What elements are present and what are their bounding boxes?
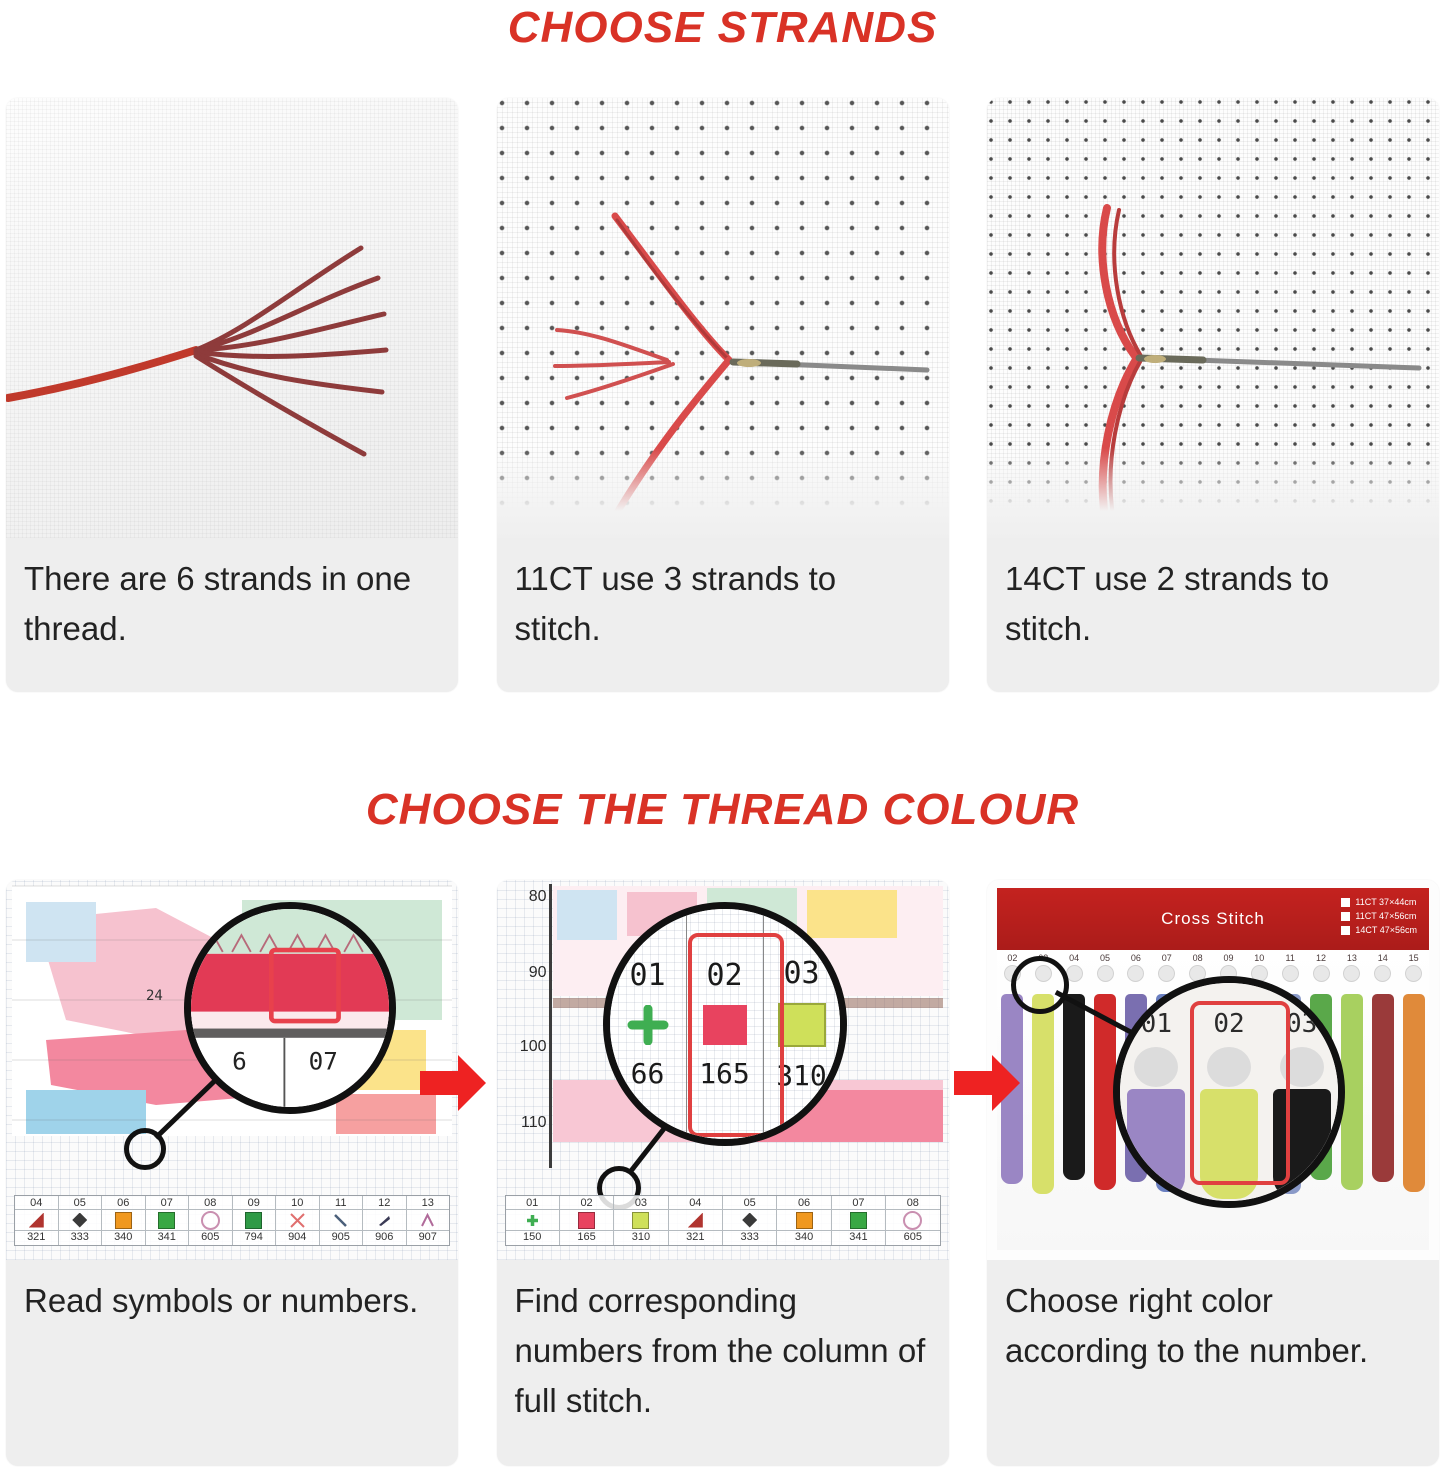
legend-number: 333: [59, 1231, 102, 1243]
cell-header: 02: [706, 958, 742, 993]
svg-text:07: 07: [309, 1047, 338, 1076]
magnified-key-cell: 03 310: [764, 909, 840, 1139]
peg-hole: [1374, 965, 1391, 982]
ct-option: 11CT 37×44cm: [1341, 897, 1417, 907]
skein: [1090, 994, 1121, 1250]
legend-header: 05: [59, 1197, 102, 1210]
pattern-chart-photo: 24: [6, 880, 458, 1260]
legend-header: 13: [407, 1197, 450, 1210]
legend-column: 10 904: [276, 1196, 320, 1245]
14ct-aida-needle-photo: [987, 98, 1439, 538]
peg-label: 04: [1069, 953, 1079, 963]
legend-symbol: [363, 1210, 406, 1231]
legend-column: 08 605: [189, 1196, 233, 1245]
legend-header: 08: [189, 1197, 232, 1210]
legend-header: 06: [777, 1197, 830, 1210]
checkbox-icon: [1341, 926, 1350, 935]
thread-focus-ring-small: [1011, 956, 1069, 1014]
checkbox-icon: [1341, 898, 1350, 907]
checkbox-icon: [1341, 912, 1350, 921]
legend-number: 905: [320, 1231, 363, 1243]
cell-header: 03: [783, 956, 819, 991]
peg-label: 05: [1100, 953, 1110, 963]
cell-number: 165: [699, 1057, 750, 1090]
row-marker: 110: [521, 1114, 547, 1132]
colour-card-row: 24: [0, 880, 1445, 1466]
cell-swatch: [703, 1005, 747, 1045]
section-heading-choose-strands: CHOOSE STRANDS: [0, 2, 1445, 54]
card-choose-color: Cross Stitch 11CT 37×44cm 11CT 47×56cm: [987, 880, 1439, 1466]
peg-label: 09: [1223, 953, 1233, 963]
card-six-strands: There are 6 strands in one thread.: [6, 98, 458, 692]
legend-column: 05 333: [723, 1196, 777, 1245]
magnified-pattern-detail: 6 07: [191, 909, 389, 1107]
legend-symbol: [614, 1210, 667, 1231]
legend-number: 321: [669, 1231, 722, 1243]
peg-hole: [1313, 965, 1330, 982]
legend-header: 06: [102, 1197, 145, 1210]
peg-label: 10: [1254, 953, 1264, 963]
peg-hole: [1134, 1047, 1178, 1087]
legend-header: 10: [276, 1197, 319, 1210]
peg-label: 07: [1162, 953, 1172, 963]
legend-number: 340: [102, 1231, 145, 1243]
row-marker: 80: [529, 888, 547, 906]
ct-option: 14CT 47×56cm: [1341, 925, 1417, 935]
magnified-key-cell: 02 165: [687, 909, 764, 1139]
legend-symbol: [233, 1210, 276, 1231]
skein: [1398, 994, 1429, 1250]
legend-column: 02 165: [560, 1196, 614, 1245]
cell-header: 01: [629, 958, 665, 993]
magnified-key-cell: 01 66: [610, 909, 687, 1139]
legend-symbol: [189, 1210, 232, 1231]
peg-hole: [1207, 1047, 1251, 1087]
legend-column: 04 321: [669, 1196, 723, 1245]
peg-label: 08: [1193, 953, 1203, 963]
legend-symbol: [506, 1210, 559, 1231]
legend-symbol: [59, 1210, 102, 1231]
legend-symbol: [669, 1210, 722, 1231]
legend-header: 09: [233, 1197, 276, 1210]
skein: [997, 994, 1028, 1250]
peg-label: 12: [1316, 953, 1326, 963]
cell-swatch: [778, 1003, 826, 1047]
ct-option-label: 11CT 37×44cm: [1355, 897, 1416, 907]
thread-organizer-photo: Cross Stitch 11CT 37×44cm 11CT 47×56cm: [987, 880, 1439, 1260]
peg-hole: [1405, 965, 1422, 982]
legend-symbol: [832, 1210, 885, 1231]
thread-bundle: [1273, 1089, 1331, 1199]
magnifier-circle: 6 07: [184, 902, 396, 1114]
legend-header: 04: [15, 1197, 58, 1210]
legend-symbol: [777, 1210, 830, 1231]
legend-column: 06 340: [777, 1196, 831, 1245]
skein: [1336, 994, 1367, 1250]
peg: 13: [1336, 950, 1367, 996]
legend-header: 08: [886, 1197, 939, 1210]
svg-text:6: 6: [232, 1047, 247, 1076]
legend-header: 11: [320, 1197, 363, 1210]
card-caption-choose-color: Choose right color according to the numb…: [987, 1260, 1439, 1466]
peg-label: 15: [1409, 953, 1419, 963]
row-marker: 100: [520, 1038, 547, 1056]
legend-number: 340: [777, 1231, 830, 1243]
magnified-thread-pegs: 01 02 03: [1120, 983, 1338, 1201]
legend-column: 07 341: [832, 1196, 886, 1245]
skein: [1028, 994, 1059, 1250]
legend-column: 09 794: [233, 1196, 277, 1245]
legend-symbol: [407, 1210, 450, 1231]
peg-label: 11: [1285, 953, 1294, 963]
card-read-symbols: 24: [6, 880, 458, 1466]
legend-column: 11 905: [320, 1196, 364, 1245]
legend-header: 07: [146, 1197, 189, 1210]
legend-column: 08 605: [886, 1196, 939, 1245]
legend-symbol: [276, 1210, 319, 1231]
peg: 14: [1367, 950, 1398, 996]
thread-organizer-card: Cross Stitch 11CT 37×44cm 11CT 47×56cm: [987, 880, 1439, 1260]
legend-header: 03: [614, 1197, 667, 1210]
ct-option-label: 14CT 47×56cm: [1355, 925, 1417, 935]
legend-header: 12: [363, 1197, 406, 1210]
thread-card-header: Cross Stitch 11CT 37×44cm 11CT 47×56cm: [997, 888, 1429, 950]
skein: [1367, 994, 1398, 1250]
legend-number: 904: [276, 1231, 319, 1243]
card-caption-find-numbers: Find corresponding numbers from the colu…: [497, 1260, 949, 1466]
legend-column: 04 321: [15, 1196, 59, 1245]
card-caption-six-strands: There are 6 strands in one thread.: [6, 538, 458, 692]
peg-hole: [1158, 965, 1175, 982]
legend-symbol: [320, 1210, 363, 1231]
legend-symbol: [102, 1210, 145, 1231]
legend-column: 13 907: [407, 1196, 450, 1245]
legend-number: 906: [363, 1231, 406, 1243]
legend-number: 321: [15, 1231, 58, 1243]
peg-hole: [1282, 965, 1299, 982]
row-marker: 90: [529, 964, 547, 982]
skein: [1059, 994, 1090, 1250]
section-heading-choose-thread-colour: CHOOSE THE THREAD COLOUR: [0, 783, 1445, 837]
magnifier-circle: 01 02 03: [1113, 976, 1345, 1208]
legend-column: 01 150: [506, 1196, 560, 1245]
peg-hole: [1097, 965, 1114, 982]
card-14ct: 14CT use 2 strands to stitch.: [987, 98, 1439, 692]
ct-option: 11CT 47×56cm: [1341, 911, 1417, 921]
photo-bottom-fade: [987, 448, 1439, 538]
legend-number: 165: [560, 1231, 613, 1243]
legend-header: 05: [723, 1197, 776, 1210]
legend-column: 12 906: [363, 1196, 407, 1245]
cell-swatch: [626, 1005, 670, 1045]
card-caption-11ct: 11CT use 3 strands to stitch.: [497, 538, 949, 692]
legend-header: 04: [669, 1197, 722, 1210]
legend-number: 341: [832, 1231, 885, 1243]
legend-column: 05 333: [59, 1196, 103, 1245]
peg-hole: [1343, 965, 1360, 982]
peg-label: 02: [1213, 1009, 1244, 1039]
six-strands-photo: [6, 98, 458, 538]
peg-label: 14: [1378, 953, 1388, 963]
peg-hole: [1127, 965, 1144, 982]
legend-number: 333: [723, 1231, 776, 1243]
peg-label: 02: [1007, 953, 1017, 963]
legend-number: 341: [146, 1231, 189, 1243]
ct-option-label: 11CT 47×56cm: [1355, 911, 1416, 921]
cell-number: 66: [631, 1057, 665, 1090]
legend-number: 794: [233, 1231, 276, 1243]
card-caption-14ct: 14CT use 2 strands to stitch.: [987, 538, 1439, 692]
peg: 15: [1398, 950, 1429, 996]
photo-bottom-fade: [497, 448, 949, 538]
card-caption-read-symbols: Read symbols or numbers.: [6, 1260, 458, 1466]
legend-column: 03 310: [614, 1196, 668, 1245]
legend-number: 605: [189, 1231, 232, 1243]
thread-bundle: [1200, 1089, 1258, 1199]
six-strands-illustration: [6, 98, 458, 538]
cell-number: 310: [776, 1059, 827, 1092]
peg-label: 06: [1131, 953, 1141, 963]
infographic-page: CHOOSE STRANDS There a: [0, 0, 1445, 1476]
thread-card-title: Cross Stitch: [1161, 909, 1265, 929]
peg-hole: [1280, 1047, 1324, 1087]
legend-symbol: [15, 1210, 58, 1231]
card-11ct: 11CT use 3 strands to stitch.: [497, 98, 949, 692]
card-find-numbers: 80 90 100 110 01: [497, 880, 949, 1466]
peg-label: 01: [1141, 1009, 1172, 1039]
magnified-peg: 01: [1120, 983, 1193, 1201]
legend-number: 605: [886, 1231, 939, 1243]
symbol-legend-table-2: 01 150 02 165 03 310: [505, 1195, 941, 1246]
peg: 05: [1090, 950, 1121, 996]
legend-number: 150: [506, 1231, 559, 1243]
ct-size-options: 11CT 37×44cm 11CT 47×56cm 14CT 47×56cm: [1341, 897, 1417, 935]
ruler-axis-line: [549, 884, 552, 1168]
symbol-key-chart-photo: 80 90 100 110 01: [497, 880, 949, 1260]
legend-number: 310: [614, 1231, 667, 1243]
magnifier-circle: 01 66 02 165 03: [603, 902, 847, 1146]
legend-header: 02: [560, 1197, 613, 1210]
legend-column: 07 341: [146, 1196, 190, 1245]
peg-label: 13: [1347, 953, 1357, 963]
thread-bundle: [1127, 1089, 1185, 1199]
legend-symbol: [886, 1210, 939, 1231]
11ct-aida-needle-photo: [497, 98, 949, 538]
peg-label: 03: [1286, 1009, 1317, 1039]
legend-symbol: [723, 1210, 776, 1231]
svg-text:24: 24: [146, 988, 163, 1004]
magnified-peg: 02: [1193, 983, 1266, 1201]
arrow-step-2-to-3-icon: [952, 1052, 1022, 1114]
symbol-legend-table-1: 04 321 05 333 06 340 07: [14, 1195, 450, 1246]
arrow-step-1-to-2-icon: [418, 1052, 488, 1114]
magnified-peg: 03: [1265, 983, 1338, 1201]
legend-header: 01: [506, 1197, 559, 1210]
legend-symbol: [560, 1210, 613, 1231]
legend-header: 07: [832, 1197, 885, 1210]
legend-symbol: [146, 1210, 189, 1231]
magnified-key-cells: 01 66 02 165 03: [610, 909, 840, 1139]
strands-card-row: There are 6 strands in one thread.: [0, 98, 1445, 692]
legend-column: 06 340: [102, 1196, 146, 1245]
row-ruler: 80 90 100 110: [503, 886, 551, 1164]
legend-number: 907: [407, 1231, 450, 1243]
